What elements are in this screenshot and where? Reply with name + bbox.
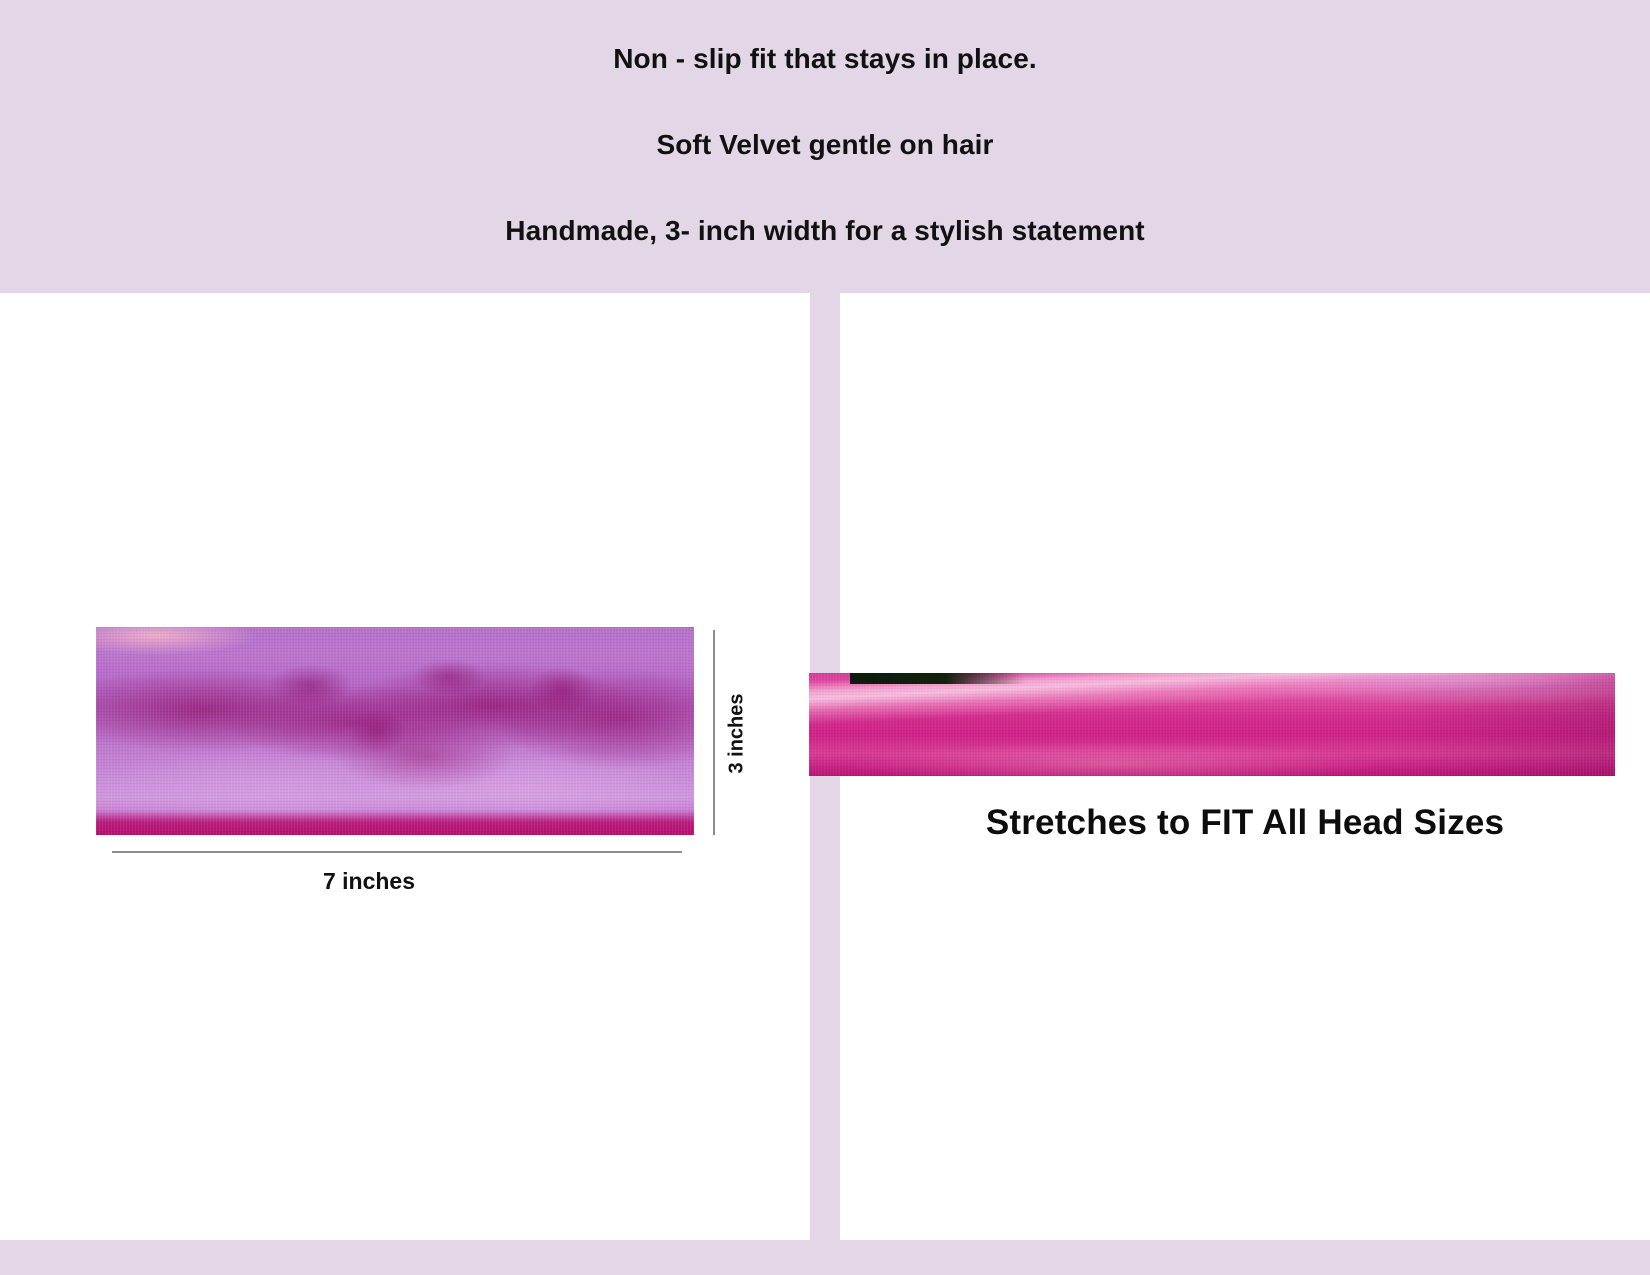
- headline-non-slip: Non - slip fit that stays in place.: [613, 44, 1037, 75]
- product-image-panels: 3 inches 7 inches Stretches to FIT All H…: [0, 293, 1650, 1240]
- width-measure-label: 7 inches: [112, 868, 626, 895]
- velvet-fabric-texture: [96, 627, 694, 835]
- stretch-caption: Stretches to FIT All Head Sizes: [840, 803, 1650, 843]
- height-measure-label-wrap: 3 inches: [716, 673, 758, 793]
- footer-banner: [0, 1240, 1650, 1275]
- stretched-velvet-texture: [809, 673, 1615, 776]
- left-product-panel: 3 inches 7 inches: [0, 293, 810, 1240]
- width-measure-line: [112, 851, 682, 853]
- stretched-headband-photo: [809, 673, 1615, 776]
- flat-headband-photo: [96, 627, 694, 835]
- header-banner: Non - slip fit that stays in place. Soft…: [0, 0, 1650, 293]
- photo-edge-shadow: [850, 673, 1025, 684]
- height-measure-label: 3 inches: [726, 693, 749, 773]
- height-measure-line: [713, 630, 715, 835]
- headline-handmade-width: Handmade, 3- inch width for a stylish st…: [505, 216, 1145, 247]
- headline-soft-velvet: Soft Velvet gentle on hair: [656, 130, 993, 161]
